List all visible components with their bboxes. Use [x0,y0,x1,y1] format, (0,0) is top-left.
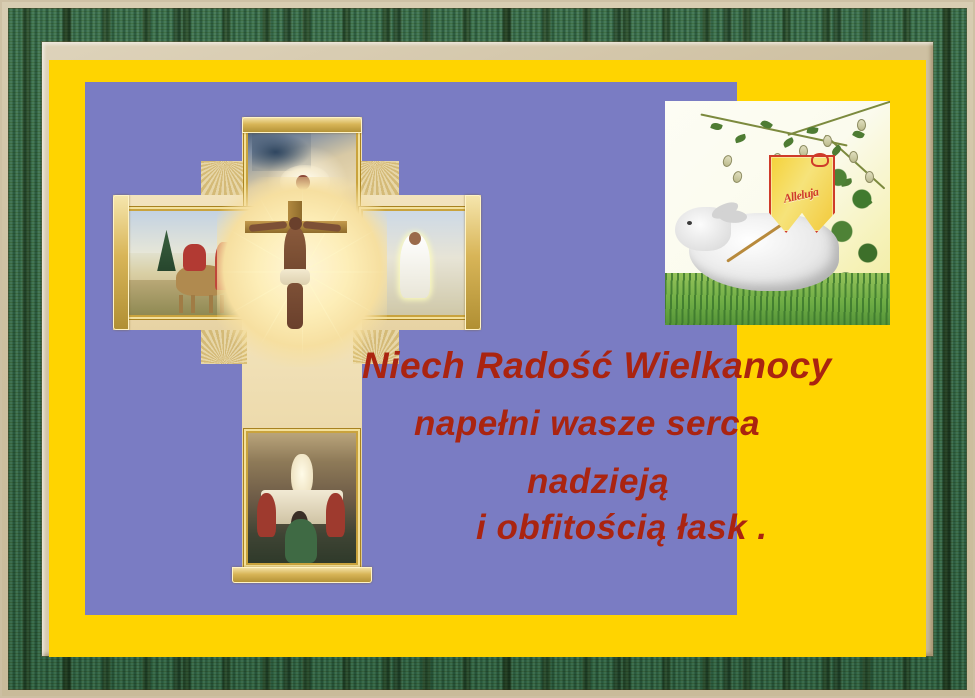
donkey-leg [179,295,183,313]
cross-ornament-bottom [232,567,372,583]
lamb-eye [687,221,692,225]
willow-catkin [857,119,866,131]
cross-ornament-top [242,117,362,133]
greeting-line-1: Niech Radość Wielkanocy [362,345,832,387]
easter-greeting-card: Alleluja Niech Radość Wielkanocy napełni… [0,0,975,698]
apostle-figure [285,519,317,563]
apostle-figure [257,493,276,537]
leaf [806,126,818,135]
greeting-line-2: napełni wasze serca [414,404,760,444]
greeting-line-4: i obfitością łask . [476,508,768,548]
rider-figure [183,244,206,271]
cross-ornament-left [113,195,129,330]
leaf [782,137,795,148]
apostle-figure [326,493,345,537]
donkey-leg [191,295,195,313]
light-ray [302,197,346,272]
easter-lamb-image: Alleluja [665,101,890,325]
cross-panel-last-supper [248,433,356,563]
donkey-leg [209,295,213,313]
willow-catkin [721,154,733,168]
greeting-line-3: nadzieją [527,462,669,502]
willow-branch [787,101,890,136]
cross-ornament-right [465,195,481,330]
banner-bow [811,153,829,167]
christ-legs [287,283,303,329]
light-ray [303,272,389,273]
christ-head [289,217,302,230]
leaf [710,121,723,131]
willow-catkin [731,170,743,184]
leaf [734,134,746,144]
